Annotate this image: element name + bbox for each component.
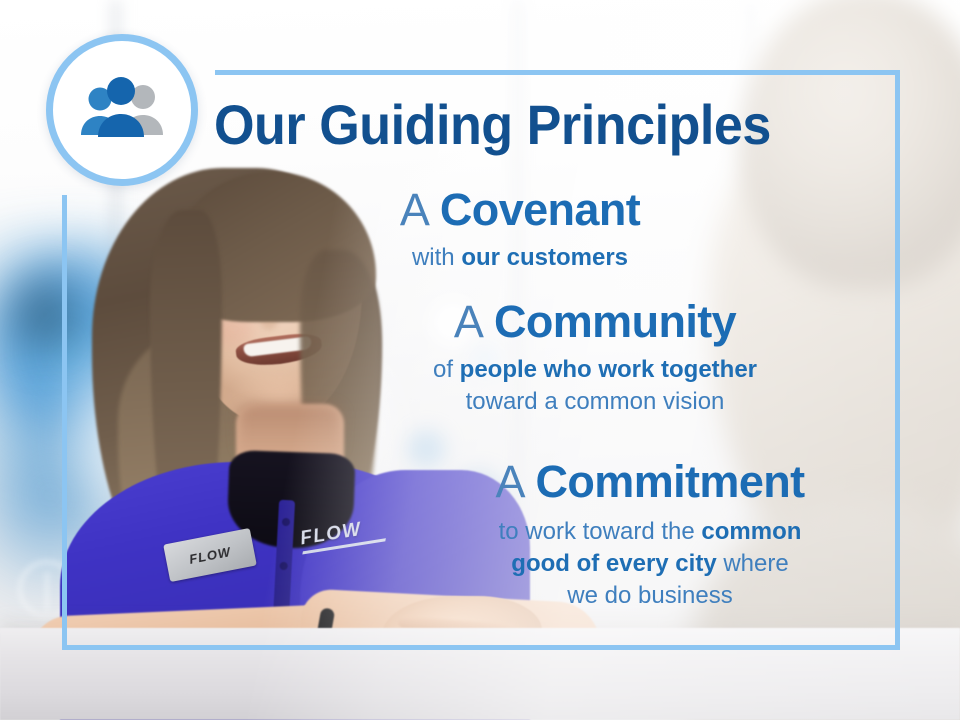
principle-subtext: of people who work togethertoward a comm… — [360, 354, 830, 418]
desk-surface — [0, 628, 960, 720]
frame-border-left — [62, 195, 67, 650]
subtext-run: to work toward the — [499, 518, 702, 545]
principle-keyword: Covenant — [440, 184, 640, 235]
principle-article: A — [454, 296, 482, 347]
subtext-run: of — [433, 356, 460, 383]
principle-keyword: Commitment — [536, 456, 805, 507]
page-title: Our Guiding Principles — [214, 92, 828, 157]
promo-graphic: FLOW FLOW Our Guiding Prin — [0, 0, 960, 720]
principle-subtext: to work toward the commongood of every c… — [400, 516, 900, 612]
principle-block-commitment: A Commitment to work toward the commongo… — [400, 458, 900, 612]
subtext-run: toward a common vision — [466, 388, 725, 415]
frame-border-bottom — [62, 645, 900, 650]
subtext-emphasis: our customers — [461, 244, 628, 271]
principle-article: A — [400, 184, 428, 235]
frame-border-top — [215, 70, 900, 75]
people-group-icon — [75, 75, 169, 145]
subtext-emphasis: people who work together — [460, 356, 757, 383]
principle-headline: A Covenant — [300, 186, 740, 234]
principle-keyword: Community — [494, 296, 736, 347]
name-badge-brand: FLOW — [188, 544, 232, 567]
subtext-run: we do business — [567, 582, 732, 609]
principle-subtext: with our customers — [300, 242, 740, 274]
principle-block-covenant: A Covenant with our customers — [300, 186, 740, 274]
subtext-emphasis: common — [701, 518, 801, 545]
subtext-run: where — [717, 550, 789, 577]
principle-headline: A Commitment — [400, 458, 900, 506]
subtext-run: with — [412, 244, 461, 271]
principle-article: A — [495, 456, 523, 507]
principle-headline: A Community — [360, 298, 830, 346]
subtext-emphasis: good of every city — [511, 550, 716, 577]
people-badge — [46, 34, 198, 186]
principle-block-community: A Community of people who work togethert… — [360, 298, 830, 418]
